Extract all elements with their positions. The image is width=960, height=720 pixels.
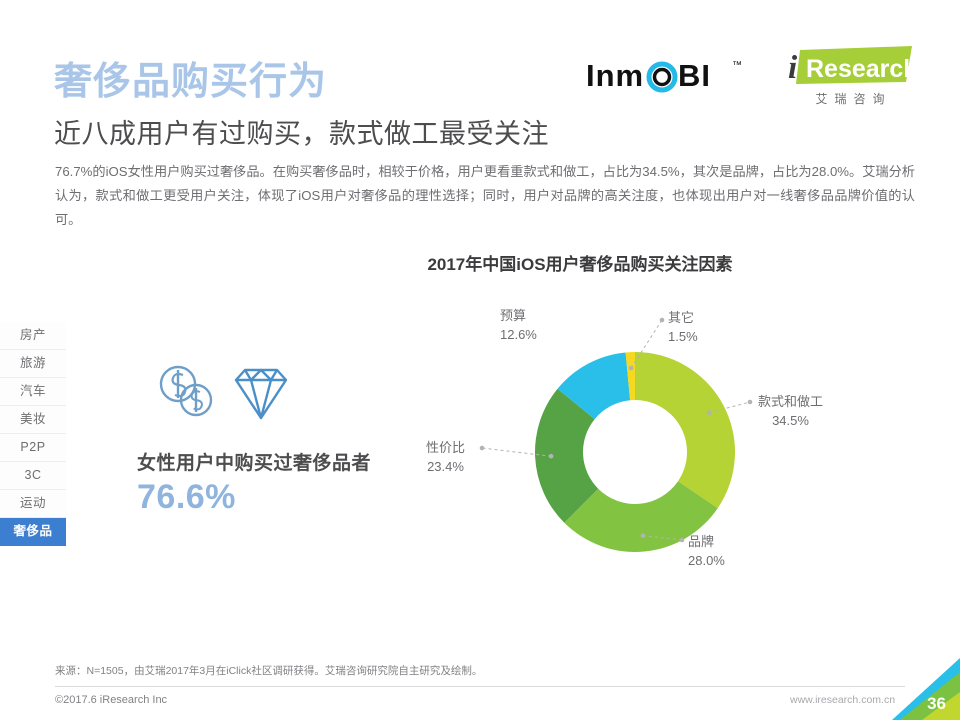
category-sidebar[interactable]: 房产旅游汽车美妆P2P3C运动奢侈品 — [0, 322, 66, 546]
sidebar-item-6[interactable]: 运动 — [0, 490, 66, 518]
donut-label-3: 预算12.6% — [500, 306, 537, 344]
inmobi-logo-mark: Inm BI ™ — [586, 56, 766, 96]
corner-decoration — [870, 658, 960, 720]
sidebar-item-3[interactable]: 美妆 — [0, 406, 66, 434]
sidebar-item-label: P2P — [20, 440, 45, 454]
source-note: 来源：N=1505，由艾瑞2017年3月在iClick社区调研获得。艾瑞咨询研究… — [55, 663, 482, 678]
iresearch-i-letter: i — [788, 50, 798, 86]
stat-value: 76.6% — [137, 478, 236, 517]
inmobi-text-left: Inm — [586, 58, 644, 93]
donut-label-name: 款式和做工 — [758, 394, 823, 409]
donut-slice-0 — [635, 352, 735, 508]
donut-label-value: 28.0% — [688, 551, 725, 570]
donut-label-name: 性价比 — [426, 440, 465, 455]
leader-dot-1-0 — [641, 533, 646, 538]
leader-dot-1-1 — [680, 538, 685, 543]
sidebar-item-label: 美妆 — [20, 412, 46, 426]
donut-label-value: 23.4% — [426, 457, 465, 476]
sidebar-item-4[interactable]: P2P — [0, 434, 66, 462]
inmobi-logo: Inm BI ™ — [586, 56, 766, 96]
inmobi-text-right: BI — [678, 58, 711, 93]
sidebar-item-label: 汽车 — [20, 384, 46, 398]
donut-label-1: 品牌28.0% — [688, 532, 725, 570]
page-title: 奢侈品购买行为 — [54, 50, 327, 105]
leader-dot-0-1 — [748, 400, 753, 405]
leader-dot-2-0 — [549, 454, 554, 459]
donut-label-value: 34.5% — [758, 411, 823, 430]
sidebar-item-label: 旅游 — [20, 356, 46, 370]
sidebar-item-label: 房产 — [20, 328, 46, 342]
iresearch-word: Research — [806, 55, 914, 83]
iresearch-logo: i Research 艾瑞咨询 — [786, 44, 914, 110]
donut-label-value: 12.6% — [500, 325, 537, 344]
sidebar-item-1[interactable]: 旅游 — [0, 350, 66, 378]
leader-dot-4-0 — [629, 366, 634, 371]
donut-chart-svg — [420, 300, 880, 590]
leader-dot-2-1 — [480, 446, 485, 451]
iresearch-logo-mark: i Research — [786, 44, 914, 88]
footer-divider — [55, 686, 905, 687]
donut-label-name: 品牌 — [688, 534, 714, 549]
donut-chart: 款式和做工34.5%品牌28.0%性价比23.4%预算12.6%其它1.5% — [420, 300, 880, 590]
diamond-icon — [236, 370, 286, 418]
iresearch-chinese-name: 艾瑞咨询 — [786, 90, 914, 107]
chart-title: 2017年中国iOS用户奢侈品购买关注因素 — [0, 250, 960, 275]
stat-label: 女性用户中购买过奢侈品者 — [137, 448, 371, 475]
leader-dot-4-1 — [660, 318, 665, 323]
donut-label-name: 其它 — [668, 310, 694, 325]
inmobi-trademark: ™ — [732, 60, 742, 71]
sidebar-item-7[interactable]: 奢侈品 — [0, 518, 66, 546]
page-subtitle: 近八成用户有过购买，款式做工最受关注 — [54, 112, 549, 151]
donut-slices — [535, 352, 735, 552]
body-paragraph: 76.7%的iOS女性用户购买过奢侈品。在购买奢侈品时，相较于价格，用户更看重款… — [55, 160, 915, 232]
donut-label-value: 1.5% — [668, 327, 698, 346]
donut-label-2: 性价比23.4% — [426, 438, 465, 476]
copyright-text: ©2017.6 iResearch Inc — [55, 694, 167, 706]
sidebar-item-label: 运动 — [20, 496, 46, 510]
donut-label-4: 其它1.5% — [668, 308, 698, 346]
sidebar-item-label: 3C — [25, 468, 42, 482]
stat-icons-svg — [150, 360, 290, 424]
page-number: 36 — [927, 694, 946, 714]
donut-label-name: 预算 — [500, 308, 526, 323]
inmobi-o-inner — [655, 70, 670, 85]
sidebar-item-0[interactable]: 房产 — [0, 322, 66, 350]
sidebar-item-2[interactable]: 汽车 — [0, 378, 66, 406]
sidebar-item-label: 奢侈品 — [13, 524, 52, 538]
leader-dot-0-0 — [707, 410, 712, 415]
sidebar-item-5[interactable]: 3C — [0, 462, 66, 490]
donut-label-0: 款式和做工34.5% — [758, 392, 823, 430]
coins-dollar-icon — [161, 367, 211, 415]
stat-icons — [150, 360, 290, 424]
